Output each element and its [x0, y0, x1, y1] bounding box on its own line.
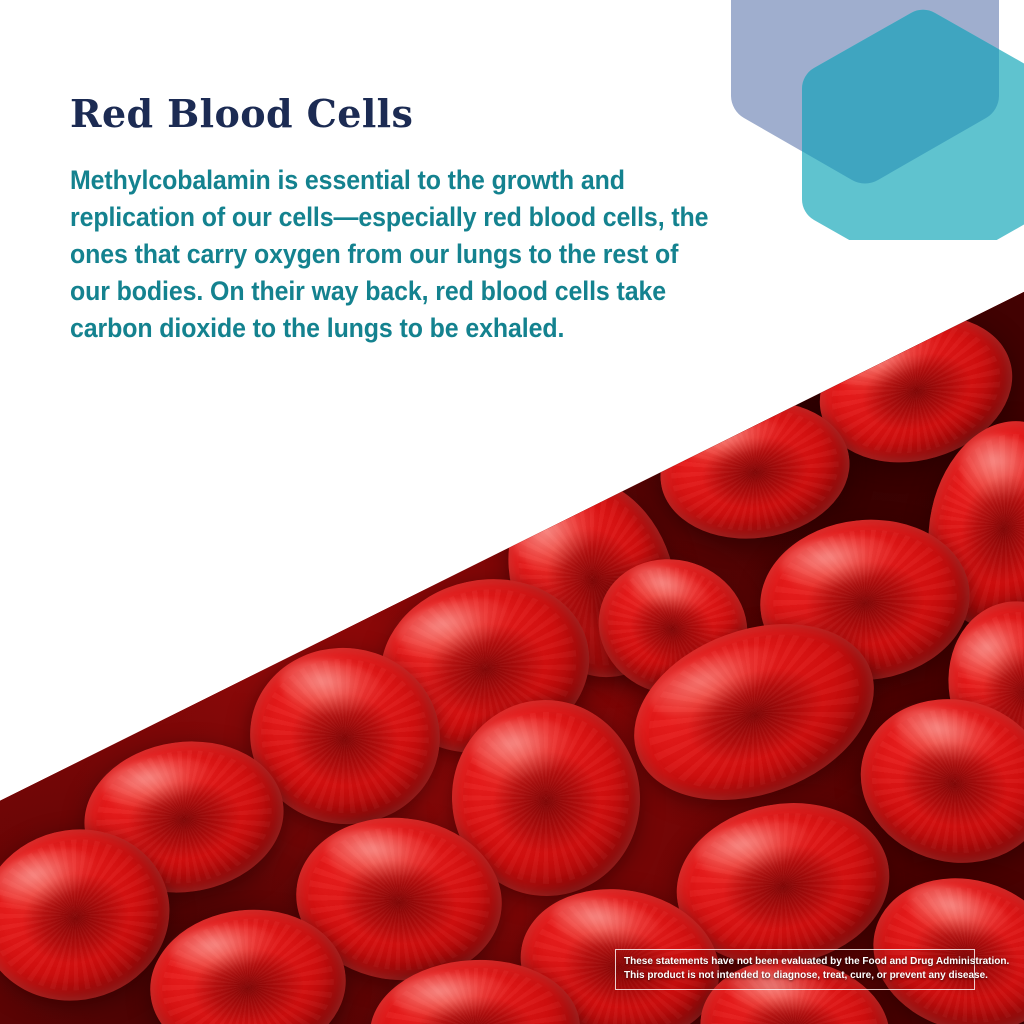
- page-title: Red Blood Cells: [70, 94, 413, 134]
- hexagon-decoration: [664, 0, 1024, 240]
- hexagon-overlap-shape: [731, 0, 999, 183]
- poster-canvas: These statements have not been evaluated…: [0, 0, 1024, 1024]
- photo-cell-field: [0, 0, 1024, 1024]
- red-blood-cells-photograph: [0, 0, 1024, 1024]
- hexagon-cyan-shape: [802, 10, 1024, 240]
- fda-disclaimer-box: These statements have not been evaluated…: [615, 949, 975, 990]
- fda-disclaimer-line-1: These statements have not been evaluated…: [624, 955, 966, 969]
- fda-disclaimer-line-2: This product is not intended to diagnose…: [624, 969, 966, 983]
- hexagon-lavender-shape: [731, 0, 999, 183]
- body-paragraph: Methylcobalamin is essential to the grow…: [70, 162, 709, 347]
